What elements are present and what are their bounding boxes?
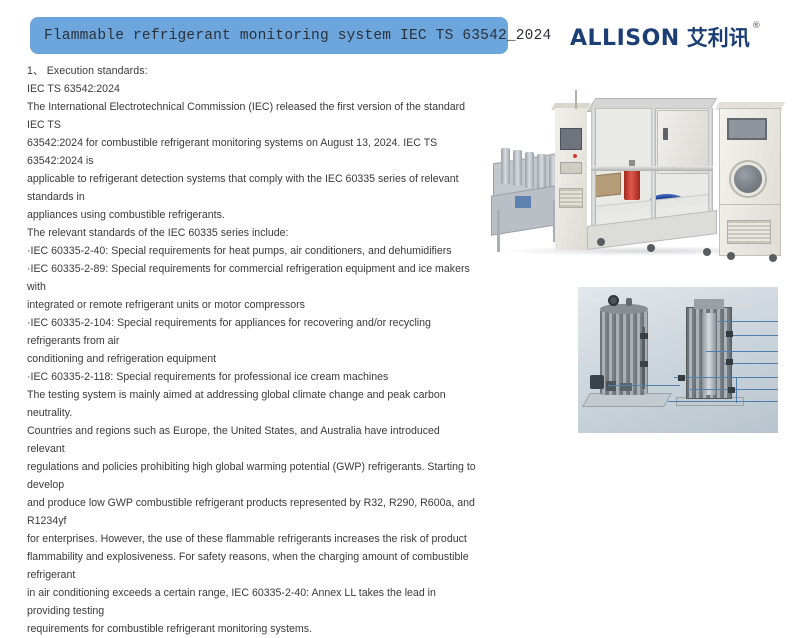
text-line: requirements for combustible refrigerant…: [27, 620, 479, 638]
chamber-round-port: [731, 162, 765, 196]
caster-wheel: [703, 248, 711, 256]
text-line: 1、 Execution standards:: [27, 62, 479, 80]
brand-logo: ALLISON 艾利讯 ®: [570, 28, 761, 50]
cabinet-vent-grille: [559, 188, 583, 208]
text-line: The International Electrotechnical Commi…: [27, 98, 479, 134]
pump-assembly: [590, 375, 604, 389]
enclosure-door: [657, 110, 711, 174]
red-gas-cylinder: [624, 166, 640, 200]
status-indicator-light: [573, 154, 577, 158]
tank-vent-fitting: [626, 298, 632, 306]
page-title: Flammable refrigerant monitoring system …: [30, 28, 551, 44]
text-line: integrated or remote refrigerant units o…: [27, 296, 479, 314]
sample-cylinder: [537, 154, 546, 190]
caster-wheel: [727, 252, 735, 260]
tank-valve: [640, 361, 648, 367]
text-line: ·IEC 60335-2-104: Special requirements f…: [27, 314, 479, 350]
tank-valve: [640, 333, 648, 339]
callout-connector: [736, 377, 737, 403]
caster-wheel: [769, 254, 777, 262]
tank-top-cap: [600, 304, 648, 314]
chamber-display-screen: [727, 118, 767, 140]
callout-line: [718, 321, 778, 322]
caster-wheel: [597, 238, 605, 246]
pressure-gauge-icon: [608, 295, 619, 306]
slide-page: Flammable refrigerant monitoring system …: [0, 0, 800, 450]
text-line: 63542:2024 for combustible refrigerant m…: [27, 134, 479, 170]
text-line: flammability and explosiveness. For safe…: [27, 548, 479, 584]
chamber-panel-seam: [719, 204, 781, 205]
text-line: ·IEC 60335-2-40: Special requirements fo…: [27, 242, 479, 260]
logo-brand-name-cn: 艾利讯: [687, 28, 750, 49]
tank-internal-column: [702, 313, 716, 395]
body-text-column: 1、 Execution standards: IEC TS 63542:202…: [27, 62, 479, 638]
frame-rail: [591, 166, 713, 171]
text-line: Countries and regions such as Europe, th…: [27, 422, 479, 458]
text-line: IEC TS 63542:2024: [27, 80, 479, 98]
callout-line: [608, 385, 680, 386]
text-line: ·IEC 60335-2-89: Special requirements fo…: [27, 260, 479, 296]
pump-motor: [606, 381, 616, 391]
cutaway-tank-cap: [694, 299, 724, 309]
title-banner: Flammable refrigerant monitoring system …: [30, 17, 508, 54]
tank-valve: [726, 359, 733, 365]
blue-tray: [515, 196, 531, 208]
tank-skid-base: [582, 393, 672, 407]
registered-trademark-icon: ®: [752, 22, 761, 31]
sample-cylinder: [525, 152, 534, 188]
callout-line: [706, 351, 778, 352]
tank-rendering-photo: [578, 287, 778, 433]
rack-leg: [497, 210, 500, 252]
callout-line: [668, 401, 778, 402]
cardboard-box: [593, 173, 621, 198]
text-line: and produce low GWP combustible refriger…: [27, 494, 479, 530]
text-line: The testing system is mainly aimed at ad…: [27, 386, 479, 422]
chamber-vent-grille: [727, 220, 771, 244]
equipment-line-photo: [487, 70, 797, 275]
logo-brand-name-en: ALLISON: [570, 28, 680, 50]
text-line: in air conditioning exceeds a certain ra…: [27, 584, 479, 620]
text-line: applicable to refrigerant detection syst…: [27, 170, 479, 206]
text-line: regulations and policies prohibiting hig…: [27, 458, 479, 494]
callout-line: [674, 377, 778, 378]
text-line: The relevant standards of the IEC 60335 …: [27, 224, 479, 242]
caster-wheel: [647, 244, 655, 252]
cabinet-control-panel: [560, 162, 582, 174]
text-line: ·IEC 60335-2-118: Special requirements f…: [27, 368, 479, 386]
text-line: appliances using combustible refrigerant…: [27, 206, 479, 224]
callout-line: [726, 335, 778, 336]
text-line: for enterprises. However, the use of the…: [27, 530, 479, 548]
cabinet-display-screen: [560, 128, 582, 150]
sample-cylinder: [513, 150, 522, 186]
tank-valve: [728, 387, 735, 393]
sample-cylinder: [501, 148, 510, 184]
tank-valve: [726, 331, 733, 337]
text-line: conditioning and refrigeration equipment: [27, 350, 479, 368]
cabinet-antenna: [575, 90, 577, 109]
tank-valve: [678, 375, 685, 381]
door-handle: [663, 128, 668, 140]
